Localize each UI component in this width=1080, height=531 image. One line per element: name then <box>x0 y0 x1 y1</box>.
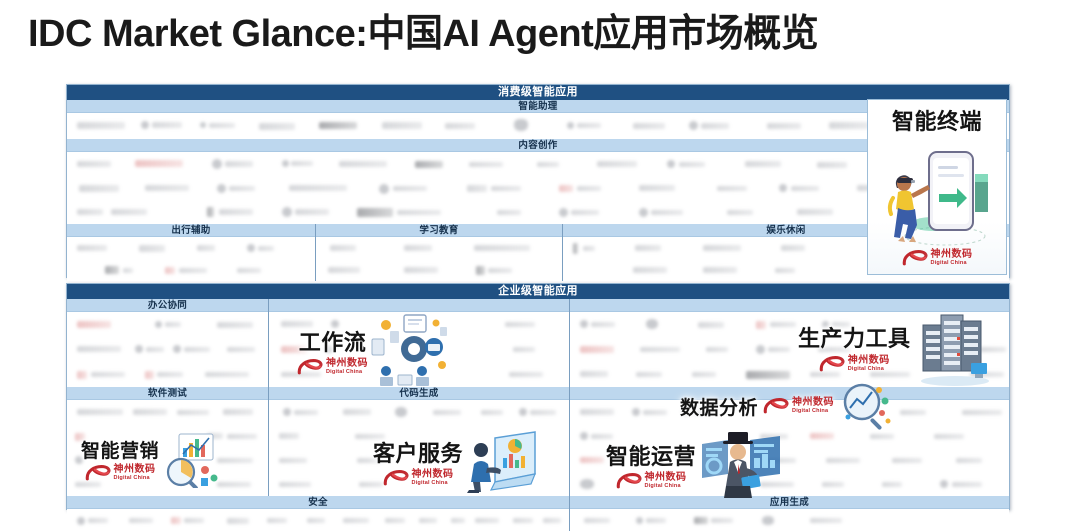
logo-chip <box>767 123 801 129</box>
logo-row <box>67 509 569 531</box>
logo-chip <box>397 210 441 215</box>
logo-chip <box>184 347 210 352</box>
logo-chip <box>591 322 615 327</box>
logo-mark <box>325 345 333 353</box>
logo-chip <box>745 161 781 167</box>
logo-chip <box>133 409 167 415</box>
logo-chip <box>701 123 729 129</box>
brand-name-cn: 神州数码 <box>931 250 973 260</box>
logo-chip <box>393 186 427 191</box>
logo-chip <box>584 518 610 523</box>
logo-mark <box>632 408 640 416</box>
logo-chip <box>343 409 371 415</box>
logo-chip <box>900 410 926 415</box>
logo-chip <box>829 122 869 129</box>
logo-chip <box>91 372 125 377</box>
logo-row <box>67 259 315 281</box>
logo-chip <box>577 186 601 191</box>
sub-header-data-analysis-spacer <box>570 387 1009 400</box>
digital-china-swoosh-icon <box>902 250 928 267</box>
enterprise-column-app-generation: 应用生成 <box>569 496 1009 531</box>
logo-chip <box>225 161 253 167</box>
logo-mark <box>646 319 658 329</box>
logo-chip <box>476 266 485 275</box>
logo-chip <box>970 372 1004 377</box>
logo-chip <box>77 122 125 129</box>
logo-mark <box>580 320 588 328</box>
logo-chip <box>404 267 438 273</box>
logo-mark <box>689 121 698 130</box>
logo-chip <box>157 372 183 377</box>
logo-mark <box>135 345 143 353</box>
logo-chip <box>797 209 833 215</box>
logo-chip <box>505 322 535 327</box>
logo-chip <box>328 267 360 273</box>
logo-chip <box>467 185 487 192</box>
logo-chip <box>497 210 521 215</box>
logo-chip <box>817 162 847 168</box>
logo-chip <box>952 482 982 487</box>
logo-chip <box>217 458 253 463</box>
logo-chip <box>537 162 559 167</box>
logo-mark <box>682 408 690 416</box>
logo-chip <box>281 346 307 353</box>
enterprise-column-software-testing: 软件测试 <box>67 387 268 424</box>
logo-chip <box>822 482 844 487</box>
enterprise-lower-columns: 智能营销 神州数码 Digital China <box>67 424 1009 496</box>
logo-chip <box>357 208 393 217</box>
logo-row <box>570 472 1009 496</box>
logo-chip <box>291 161 313 166</box>
logo-chip <box>404 245 432 251</box>
logo-chip <box>491 186 521 191</box>
logo-chip <box>756 321 766 329</box>
logo-row <box>67 400 268 424</box>
logo-chip <box>781 245 805 251</box>
logo-chip <box>207 207 214 217</box>
consumer-column-education: 学习教育 <box>315 224 562 281</box>
logo-chip <box>184 518 204 523</box>
enterprise-footer-columns: 安全 应用生成 <box>67 496 1009 531</box>
logo-row <box>269 424 569 448</box>
logo-chip <box>693 410 715 415</box>
logo-chip <box>635 245 661 251</box>
logo-chip <box>146 347 164 352</box>
logo-chip <box>419 518 437 523</box>
logo-chip <box>775 268 795 273</box>
logo-chip <box>580 346 614 353</box>
logo-mark <box>379 184 389 194</box>
logo-chip <box>355 434 385 439</box>
logo-chip <box>227 518 249 524</box>
logo-mark <box>75 456 83 464</box>
logo-chip <box>760 482 794 487</box>
logo-chip <box>237 268 261 273</box>
logo-chip <box>77 321 111 328</box>
logo-mark <box>212 159 222 169</box>
logo-mark <box>567 122 574 129</box>
enterprise-column-customer-service: 客户服务 神州数码 Digital China <box>268 424 569 496</box>
logo-chip <box>227 434 257 439</box>
enterprise-column-office: 办公协同 <box>67 299 268 387</box>
logo-chip <box>75 433 85 441</box>
enterprise-column-productivity: 生产力工具 神州数码 Digital China <box>569 299 1009 387</box>
logo-mark <box>580 432 588 440</box>
sub-header-code-generation: 代码生成 <box>269 387 569 400</box>
logo-chip <box>580 457 604 463</box>
logo-row <box>269 448 569 472</box>
logo-mark <box>580 479 594 489</box>
logo-chip <box>209 123 235 128</box>
smart-terminal-illustration <box>871 136 1003 252</box>
logo-mark <box>756 345 765 354</box>
logo-chip <box>295 209 329 215</box>
logo-row <box>316 259 562 281</box>
sub-header-education: 学习教育 <box>316 224 562 237</box>
logo-chip <box>694 517 708 524</box>
logo-mark <box>247 244 255 252</box>
logo-chip <box>703 245 741 251</box>
sub-header-office-collab: 办公协同 <box>67 299 268 312</box>
logo-chip <box>179 268 207 273</box>
logo-chip <box>75 482 101 487</box>
logo-chip <box>165 322 181 327</box>
enterprise-column-smart-marketing: 智能营销 神州数码 Digital China <box>67 424 268 496</box>
logo-chip <box>171 517 181 524</box>
logo-chip <box>135 160 183 167</box>
logo-chip <box>870 434 894 439</box>
logo-row <box>67 337 268 362</box>
logo-chip <box>711 518 733 523</box>
logo-chip <box>580 409 614 415</box>
logo-chip <box>633 267 667 273</box>
sub-header-app-generation: 应用生成 <box>570 496 1009 509</box>
logo-chip <box>571 210 599 215</box>
logo-chip <box>810 372 840 377</box>
logo-mark <box>282 160 289 167</box>
logo-chip <box>77 371 87 379</box>
logo-chip <box>934 434 964 439</box>
logo-chip <box>294 410 318 415</box>
logo-chip <box>474 245 530 251</box>
logo-mark <box>282 207 292 217</box>
logo-chip <box>129 518 153 523</box>
logo-row <box>269 312 569 337</box>
logo-chip <box>77 346 121 352</box>
logo-chip <box>639 185 675 191</box>
logo-chip <box>577 123 601 128</box>
logo-mark <box>762 516 774 525</box>
logo-chip <box>145 185 189 191</box>
logo-mark <box>636 517 643 524</box>
logo-row <box>570 312 1009 337</box>
logo-chip <box>279 482 311 487</box>
logo-mark <box>331 320 339 328</box>
logo-chip <box>197 245 215 251</box>
logo-chip <box>229 186 255 191</box>
sub-header-software-testing: 软件测试 <box>67 387 268 400</box>
logo-chip <box>698 322 724 328</box>
enterprise-top-columns: 办公协同 <box>67 299 1009 387</box>
logo-mark <box>173 345 181 353</box>
logo-mark <box>395 407 407 417</box>
digital-china-logo: 神州数码 Digital China <box>902 250 973 267</box>
logo-row <box>67 448 268 472</box>
logo-chip <box>357 458 383 463</box>
logo-chip <box>165 267 175 274</box>
logo-chip <box>207 433 223 439</box>
logo-chip <box>583 246 595 251</box>
art-smart-terminal: 智能终端 <box>867 99 1007 275</box>
enterprise-column-data-analysis: 数据分析 神州数码 Digital China <box>569 387 1009 424</box>
logo-chip <box>962 410 1002 415</box>
logo-chip <box>513 347 535 352</box>
logo-chip <box>717 186 747 191</box>
logo-mark <box>514 119 528 131</box>
logo-chip <box>956 458 982 463</box>
logo-chip <box>259 123 295 130</box>
logo-chip <box>791 186 819 191</box>
logo-chip <box>679 162 705 167</box>
logo-mark <box>559 208 568 217</box>
logo-chip <box>330 245 356 251</box>
logo-chip <box>980 347 1006 352</box>
logo-mark <box>667 160 675 168</box>
logo-chip <box>145 371 154 379</box>
logo-row <box>570 448 1009 472</box>
logo-row <box>269 400 569 424</box>
enterprise-column-workflow: 工作流 神州数码 Digital China <box>268 299 569 387</box>
logo-mark <box>639 208 648 217</box>
logo-chip <box>509 372 543 377</box>
logo-chip <box>633 123 665 129</box>
sub-header-workflow-spacer <box>269 299 569 312</box>
logo-chip <box>826 458 860 463</box>
enterprise-column-security: 安全 <box>67 496 569 531</box>
logo-chip <box>281 372 321 377</box>
logo-chip <box>359 482 383 487</box>
logo-row <box>67 362 268 387</box>
logo-chip <box>279 433 299 439</box>
logo-chip <box>481 410 503 415</box>
logo-chip <box>892 458 922 463</box>
page-title: IDC Market Glance:中国AI Agent应用市场概览 <box>28 14 1068 56</box>
logo-chip <box>559 185 573 192</box>
sub-header-productivity-spacer <box>570 299 1009 312</box>
sub-header-security: 安全 <box>67 496 569 509</box>
logo-chip <box>77 409 123 415</box>
logo-chip <box>343 518 369 523</box>
logo-chip <box>415 161 443 168</box>
logo-chip <box>123 268 133 273</box>
logo-chip <box>281 321 313 327</box>
logo-mark <box>141 121 149 129</box>
logo-row <box>67 472 268 496</box>
enterprise-column-code-generation: 代码生成 <box>268 387 569 424</box>
logo-chip <box>727 210 753 215</box>
logo-row <box>269 362 569 387</box>
logo-chip <box>810 518 842 523</box>
logo-row <box>67 312 268 337</box>
logo-mark <box>822 321 829 328</box>
logo-chip <box>580 371 608 377</box>
logo-mark <box>155 321 162 328</box>
logo-chip <box>810 433 834 439</box>
logo-chip <box>445 123 475 129</box>
logo-chip <box>88 518 108 523</box>
logo-row <box>67 424 268 448</box>
logo-chip <box>770 322 796 327</box>
logo-chip <box>105 266 119 274</box>
logo-chip <box>77 161 111 167</box>
logo-chip <box>703 267 737 273</box>
logo-mark <box>940 480 948 488</box>
logo-chip <box>818 347 850 352</box>
logo-chip <box>319 122 357 129</box>
logo-mark <box>283 408 291 416</box>
logo-chip <box>258 246 274 251</box>
logo-chip <box>339 161 387 167</box>
logo-chip <box>643 410 667 415</box>
logo-chip <box>706 347 728 352</box>
logo-chip <box>640 347 680 352</box>
logo-row <box>570 337 1009 362</box>
logo-mark <box>779 184 787 192</box>
logo-mark <box>217 184 226 193</box>
logo-mark <box>519 408 527 416</box>
enterprise-section-header: 企业级智能应用 <box>67 284 1009 299</box>
logo-chip <box>289 185 347 191</box>
logo-chip <box>469 162 503 167</box>
logo-chip <box>307 518 325 523</box>
art-label-smart-terminal: 智能终端 <box>892 104 982 136</box>
logo-chip <box>79 185 119 192</box>
logo-chip <box>513 518 533 523</box>
enterprise-column-smart-operations: 智能运营 神州数码 Digital China <box>569 424 1009 496</box>
logo-chip <box>433 410 461 415</box>
logo-chip <box>385 518 405 523</box>
logo-chip <box>152 122 182 128</box>
logo-chip <box>543 518 561 523</box>
logo-chip <box>591 434 613 439</box>
logo-row <box>269 472 569 496</box>
logo-row <box>67 237 315 259</box>
logo-chip <box>382 122 422 129</box>
logo-chip <box>223 409 253 415</box>
logo-chip <box>205 372 249 377</box>
logo-chip <box>77 245 107 251</box>
consumer-section-header: 消费级智能应用 <box>67 85 1009 100</box>
logo-chip <box>692 372 716 377</box>
logo-chip <box>475 518 499 523</box>
logo-chip <box>488 268 512 273</box>
logo-chip <box>651 210 683 215</box>
logo-chip <box>636 372 662 377</box>
logo-chip <box>832 322 850 327</box>
logo-chip <box>573 243 578 254</box>
logo-chip <box>267 518 287 523</box>
logo-chip <box>870 372 910 377</box>
logo-row <box>570 400 1009 424</box>
logo-mark <box>77 517 85 525</box>
logo-chip <box>597 161 637 167</box>
logo-chip <box>111 209 147 215</box>
logo-chip <box>760 434 788 439</box>
logo-chip <box>746 371 790 379</box>
enterprise-middle-columns: 软件测试 代码生成 <box>67 387 1009 424</box>
logo-chip <box>646 518 666 523</box>
logo-chip <box>217 482 251 487</box>
logo-row <box>570 509 1009 531</box>
logo-chip <box>227 347 255 352</box>
sub-header-travel: 出行辅助 <box>67 224 315 237</box>
logo-row <box>316 237 562 259</box>
consumer-column-travel: 出行辅助 <box>67 224 315 281</box>
brand-name-en: Digital China <box>931 261 973 267</box>
logo-chip <box>219 209 253 215</box>
logo-row <box>570 362 1009 387</box>
logo-chip <box>766 458 796 463</box>
logo-row <box>269 337 569 362</box>
logo-chip <box>279 458 307 463</box>
logo-chip <box>139 245 165 252</box>
logo-chip <box>177 410 209 415</box>
logo-row <box>570 424 1009 448</box>
logo-chip <box>530 410 556 415</box>
consumer-panel: 消费级智能应用 智能助理 内容创作 <box>66 84 1010 278</box>
logo-chip <box>217 322 253 328</box>
enterprise-panel: 企业级智能应用 办公协同 <box>66 283 1010 510</box>
logo-chip <box>451 518 465 523</box>
logo-chip <box>768 347 790 352</box>
logo-mark <box>200 122 206 128</box>
logo-chip <box>77 209 103 215</box>
logo-chip <box>882 482 902 487</box>
